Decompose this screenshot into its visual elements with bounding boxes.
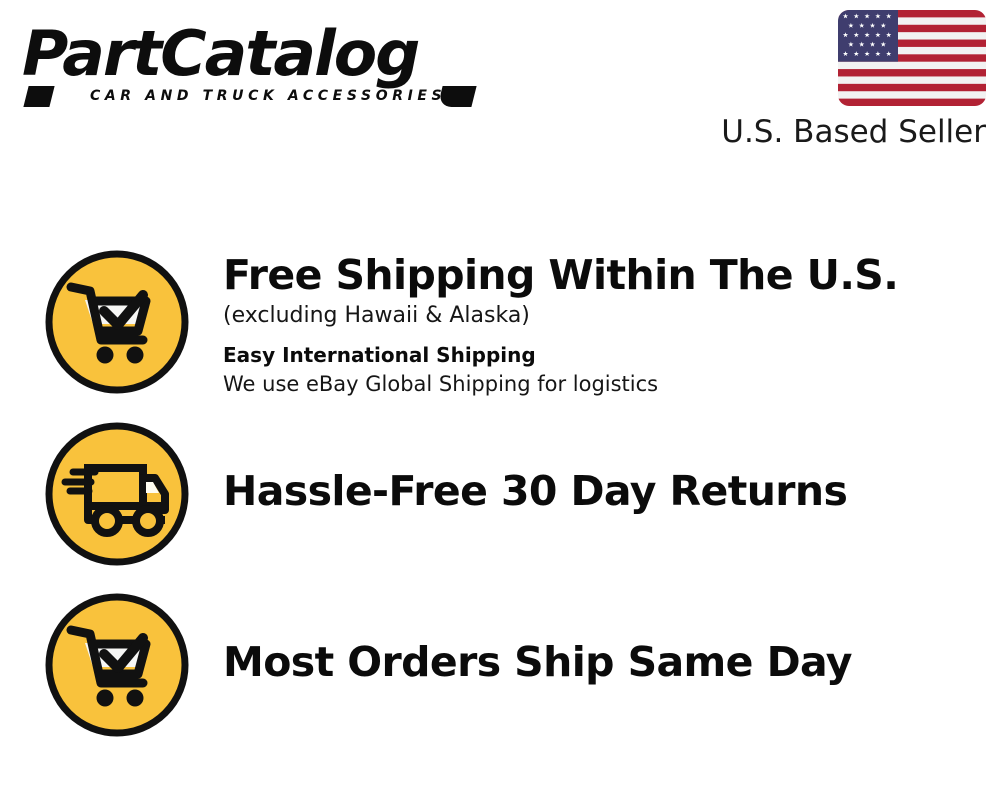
feature-subtitle: (excluding Hawaii & Alaska): [223, 301, 1000, 331]
brand-tagline: CAR AND TRUCK ACCESSORIES: [90, 88, 446, 104]
feature-title: Free Shipping Within The U.S.: [223, 250, 1000, 300]
brand-logo: PartCatalog CAR AND TRUCK ACCESSORIES: [22, 22, 492, 117]
us-based-seller-label: U.S. Based Seller: [718, 114, 986, 150]
feature-highlight: Easy International Shipping: [223, 340, 1000, 370]
feature-text-free-shipping: Free Shipping Within The U.S. (excluding…: [223, 248, 1000, 399]
feature-row-returns: Hassle-Free 30 Day Returns: [0, 420, 1000, 592]
shopping-cart-check-icon: [43, 591, 191, 739]
feature-row-same-day-ship: Most Orders Ship Same Day: [0, 591, 1000, 766]
feature-note: We use eBay Global Shipping for logistic…: [223, 370, 1000, 399]
feature-title: Most Orders Ship Same Day: [223, 637, 1000, 687]
shopping-cart-check-icon: [43, 248, 191, 396]
delivery-truck-icon: [43, 420, 191, 568]
tagline-rule-right-icon: [437, 86, 476, 107]
tagline-rule-left-icon: [23, 86, 54, 107]
brand-wordmark: PartCatalog: [22, 22, 501, 86]
brand-tagline-row: CAR AND TRUCK ACCESSORIES: [22, 88, 492, 110]
feature-text-same-day-ship: Most Orders Ship Same Day: [223, 591, 1000, 687]
header-banner: PartCatalog CAR AND TRUCK ACCESSORIES: [0, 0, 1000, 175]
feature-row-free-shipping: Free Shipping Within The U.S. (excluding…: [0, 248, 1000, 423]
feature-text-returns: Hassle-Free 30 Day Returns: [223, 420, 1000, 516]
feature-title: Hassle-Free 30 Day Returns: [223, 466, 1000, 516]
us-flag-icon: [838, 10, 986, 106]
